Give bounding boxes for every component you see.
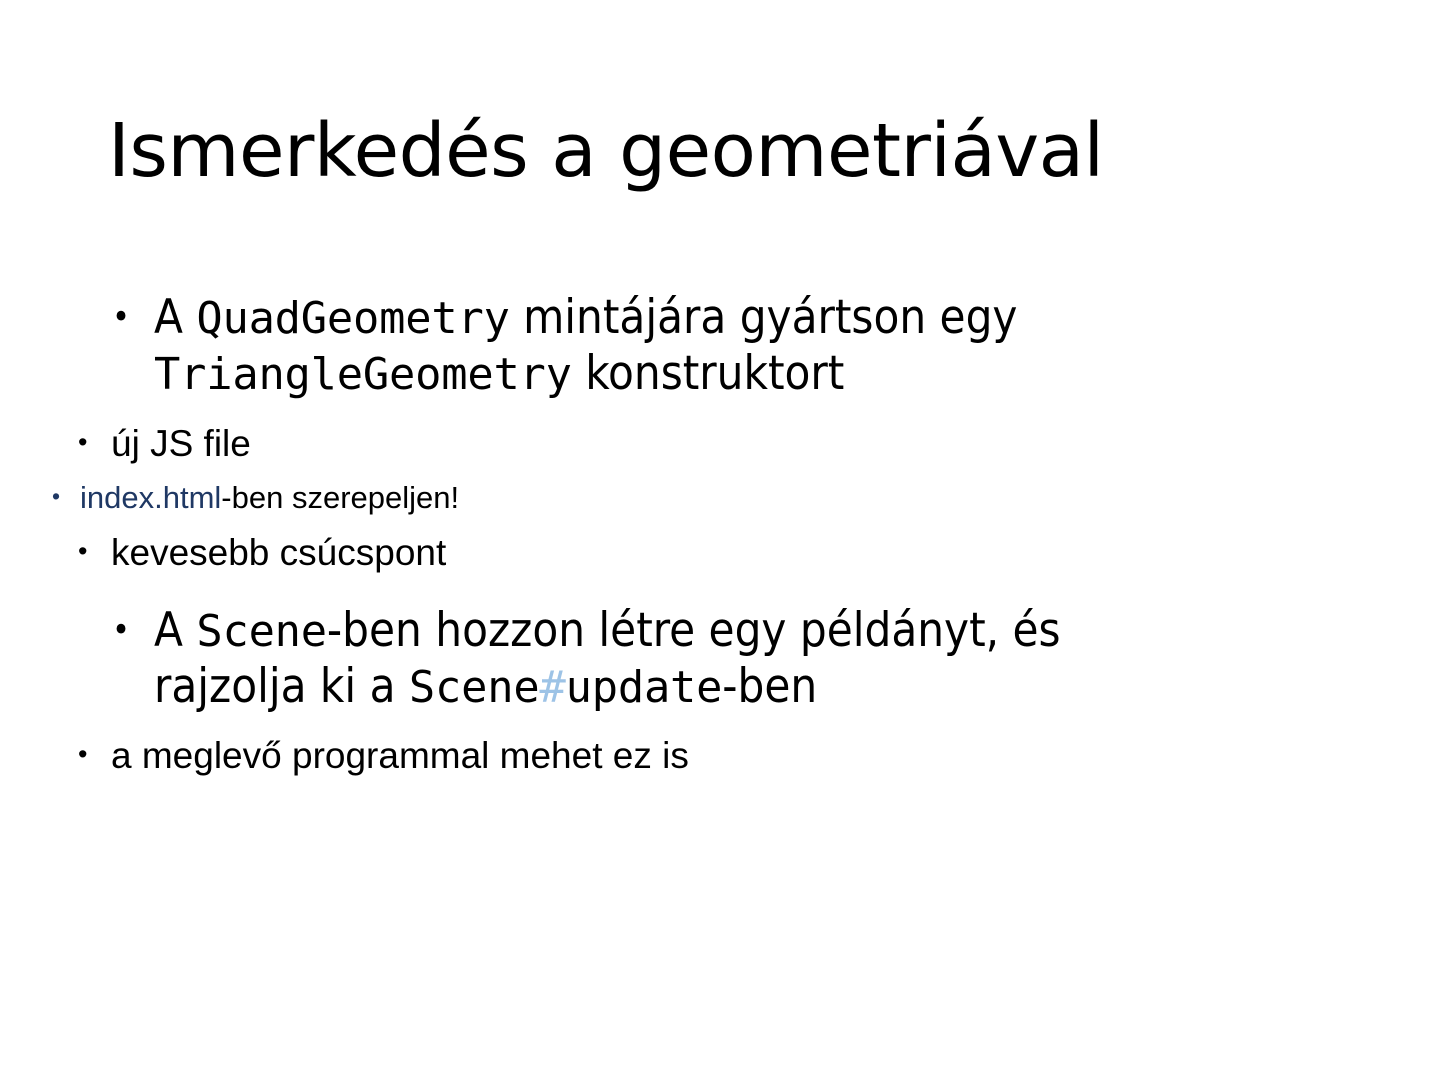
bullet-marker-icon: •	[78, 530, 87, 574]
spacer	[0, 405, 1440, 421]
run-code-trianglegeometry: TriangleGeometry	[154, 349, 572, 400]
bullet-line: új JS file	[111, 421, 1440, 466]
bullet-marker-icon: •	[78, 421, 87, 465]
bullet-list-level-1: • A Scene-ben hozzon létre egy példányt,…	[0, 603, 1440, 716]
bullet-uj-js-file[interactable]: • új JS file	[78, 421, 1440, 466]
page-title: Ismerkedés a geometriával	[108, 112, 1348, 192]
bullet-line: rajzolja ki a Scene#update-ben	[154, 659, 1440, 715]
run-code-scene: Scene	[409, 662, 540, 713]
bullet-list-level-2: • kevesebb csúcspont	[0, 530, 1440, 575]
run-link-index-html: index.html	[80, 480, 221, 515]
run-text: konstruktort	[572, 346, 845, 401]
spacer	[0, 575, 1440, 603]
run-code-quadgeometry: QuadGeometry	[196, 293, 509, 344]
bullet-line: index.html-ben szerepeljen!	[80, 478, 1440, 518]
bullet-list-level-2: • új JS file	[0, 421, 1440, 466]
run-code-update: update	[566, 662, 723, 713]
bullet-kevesebb-csucspont[interactable]: • kevesebb csúcspont	[78, 530, 1440, 575]
bullet-marker-icon: •	[52, 478, 60, 515]
run-text: -ben hozzon létre egy példányt, és	[327, 603, 1061, 658]
spacer	[0, 518, 1440, 530]
run-text: A	[154, 603, 196, 658]
bullet-list-level-1: • A QuadGeometry mintájára gyártson egy …	[0, 290, 1440, 403]
bullet-list-level-2: • a meglevő programmal mehet ez is	[0, 733, 1440, 778]
bullet-line: A QuadGeometry mintájára gyártson egy	[154, 290, 1440, 346]
spacer	[0, 466, 1440, 478]
bullet-line: a meglevő programmal mehet ez is	[111, 733, 1440, 778]
bullet-quadgeometry[interactable]: • A QuadGeometry mintájára gyártson egy …	[112, 290, 1440, 403]
bullet-marker-icon: •	[112, 603, 130, 658]
bullet-list-level-3: • index.html-ben szerepeljen!	[0, 478, 1440, 518]
run-text: A	[154, 290, 196, 345]
run-text: rajzolja ki a	[154, 659, 409, 714]
bullet-line: kevesebb csúcspont	[111, 530, 1440, 575]
bullet-index-html[interactable]: • index.html-ben szerepeljen!	[52, 478, 1440, 518]
run-code-scene: Scene	[196, 606, 327, 657]
bullet-meglevo-program[interactable]: • a meglevő programmal mehet ez is	[78, 733, 1440, 778]
bullet-line: A Scene-ben hozzon létre egy példányt, é…	[154, 603, 1440, 659]
bullet-marker-icon: •	[78, 733, 87, 777]
slide-canvas: Ismerkedés a geometriával • A QuadGeomet…	[0, 0, 1440, 1080]
run-text: mintájára gyártson egy	[510, 290, 1018, 345]
bullet-marker-icon: •	[112, 290, 130, 345]
run-text: -ben	[722, 659, 817, 714]
spacer	[0, 717, 1440, 733]
bullet-line: TriangleGeometry konstruktort	[154, 346, 1440, 402]
slide-body: • A QuadGeometry mintájára gyártson egy …	[0, 290, 1440, 779]
run-text: -ben szerepeljen!	[221, 480, 459, 515]
bullet-scene-peldany[interactable]: • A Scene-ben hozzon létre egy példányt,…	[112, 603, 1440, 716]
run-code-hash: #	[539, 662, 565, 713]
